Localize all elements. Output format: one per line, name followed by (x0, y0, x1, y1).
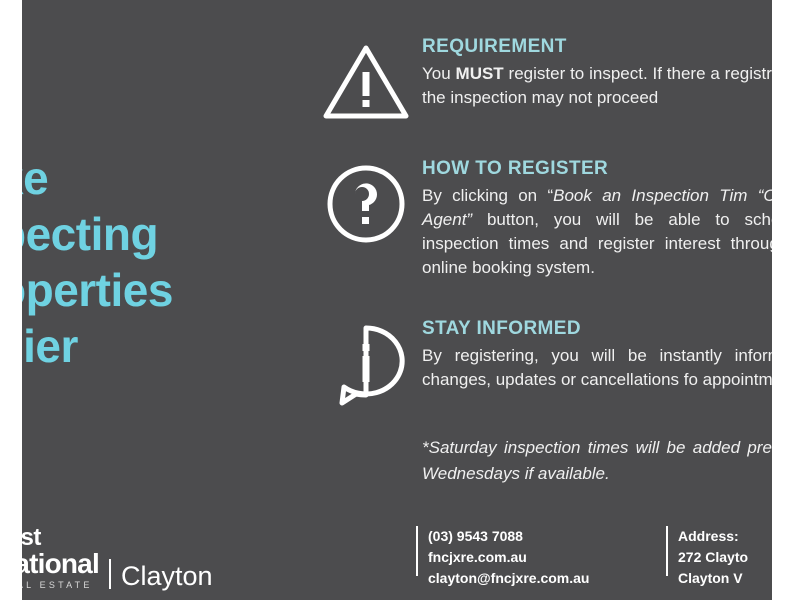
address-line-2: Clayton V (678, 568, 748, 589)
logo-office-name: Clayton (121, 563, 213, 590)
section-requirement: REQUIREMENT You MUST register to inspect… (320, 36, 772, 110)
note-line-1: *Saturday inspection times will be added (422, 438, 740, 457)
headline-line-2: pecting (22, 206, 298, 262)
contact-website[interactable]: fncjxre.com.au (428, 547, 589, 568)
section-text-how-to-register: By clicking on “Book an Inspection Tim “… (422, 184, 772, 280)
contact-details: (03) 9543 7088 fncjxre.com.au clayton@fn… (428, 526, 589, 589)
address-label: Address: (678, 526, 748, 547)
headline-line-3: operties (22, 262, 298, 318)
saturday-note: *Saturday inspection times will be added… (320, 435, 772, 487)
brand-logo: first national REAL ESTATE Clayton (22, 526, 213, 590)
address-line-1: 272 Clayto (678, 547, 748, 568)
question-mark-circle-icon (320, 158, 412, 250)
req-text-bold: MUST (456, 64, 504, 83)
headline-line-4: sier (22, 318, 298, 374)
logo-first-word: first (22, 526, 213, 550)
req-text-prefix: You (422, 64, 456, 83)
info-speech-bubble-icon (320, 318, 412, 410)
section-stay-informed: STAY INFORMED By registering, you will b… (320, 318, 772, 392)
address-divider-rule (666, 526, 668, 576)
poster-canvas: ke pecting operties sier REQUIREMENT You… (22, 0, 772, 600)
logo-national-word: national (22, 550, 99, 578)
contact-email[interactable]: clayton@fncjxre.com.au (428, 568, 589, 589)
page-headline: ke pecting operties sier (22, 150, 298, 374)
section-text-stay-informed: By registering, you will be instantly in… (422, 344, 772, 392)
reg-line1-prefix: By clicking on “ (422, 186, 553, 205)
poster-panel: ke pecting operties sier REQUIREMENT You… (22, 0, 772, 600)
section-title-requirement: REQUIREMENT (422, 36, 772, 58)
reg-line1-italic: Book an Inspection Tim (553, 186, 747, 205)
section-title-stay-informed: STAY INFORMED (422, 318, 772, 340)
section-title-how-to-register: HOW TO REGISTER (422, 158, 772, 180)
section-text-requirement: You MUST register to inspect. If there a… (422, 62, 772, 110)
logo-divider (109, 559, 111, 589)
headline-line-1: ke (22, 150, 298, 206)
saturday-note-text: *Saturday inspection times will be added… (422, 435, 772, 487)
section-how-to-register: HOW TO REGISTER By clicking on “Book an … (320, 158, 772, 280)
footer: first national REAL ESTATE Clayton (03) … (22, 508, 772, 600)
contact-phone[interactable]: (03) 9543 7088 (428, 526, 589, 547)
logo-real-estate-word: REAL ESTATE (22, 581, 99, 590)
warning-triangle-icon (320, 36, 412, 128)
reg-line2-suffix: button, you will be able to (472, 210, 730, 229)
address-details: Address: 272 Clayto Clayton V (678, 526, 748, 589)
contact-divider-rule (416, 526, 418, 576)
